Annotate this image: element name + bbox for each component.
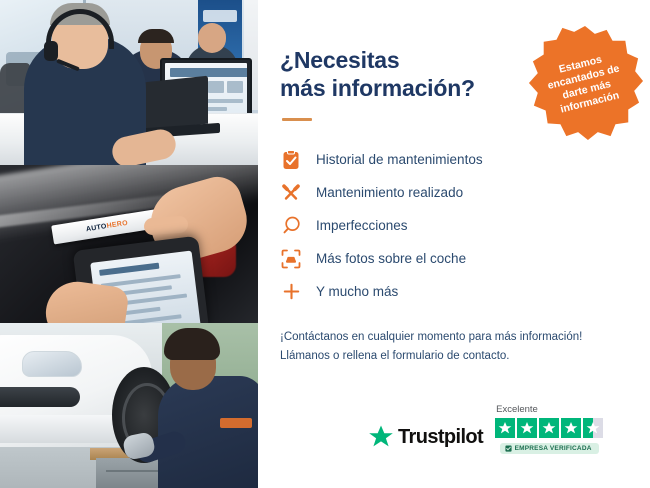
trustpilot-star-icon (368, 424, 394, 450)
second-agent-hair (138, 29, 174, 43)
info-badge: Estamos encantados de darte más informac… (526, 24, 644, 142)
technician-hair (164, 328, 220, 360)
page-title: ¿Necesitas más información? (280, 46, 505, 102)
feature-list: Historial de mantenimientos Mantenimient… (280, 143, 624, 308)
feature-label: Mantenimiento realizado (316, 185, 463, 200)
feature-label: Más fotos sobre el coche (316, 251, 466, 266)
ruler-brand-hero: HERO (106, 220, 128, 230)
inspector-finger (143, 215, 188, 235)
wheel-inspection-photo (0, 323, 258, 488)
car-scan-icon (280, 248, 302, 270)
laptop (144, 76, 208, 131)
contact-text: ¡Contáctanos en cualquier momento para m… (280, 328, 624, 365)
feature-item-maintenance-done: Mantenimiento realizado (280, 176, 624, 209)
verified-company-badge: EMPRESA VERIFICADA (500, 443, 599, 454)
contact-line-1: ¡Contáctanos en cualquier momento para m… (280, 331, 582, 343)
magnifier-icon (280, 215, 302, 237)
trustpilot-stars (495, 418, 603, 438)
info-poster: AUTOHERO (0, 0, 650, 488)
background-colleague-head (198, 23, 226, 53)
feature-label: Historial de mantenimientos (316, 152, 483, 167)
car-headlight (22, 351, 82, 377)
title-divider (282, 118, 312, 121)
page-title-line-1: ¿Necesitas (280, 47, 399, 73)
feature-item-maintenance-history: Historial de mantenimientos (280, 143, 624, 176)
badge-text: Estamos encantados de darte más informac… (531, 47, 640, 121)
agent-headset-earcup (44, 41, 58, 61)
car-inspection-ruler-photo: AUTOHERO (0, 165, 258, 323)
feature-item-much-more: Y mucho más (280, 275, 624, 308)
technician-uniform-logo (220, 418, 252, 428)
verified-company-label: EMPRESA VERIFICADA (515, 445, 592, 452)
feature-label: Y mucho más (316, 284, 398, 299)
content-panel: ¿Necesitas más información? Historial de… (258, 0, 650, 488)
contact-line-2: Llámanos o rellena el formulario de cont… (280, 350, 510, 362)
tools-cross-icon (280, 182, 302, 204)
star-5-half (583, 418, 603, 438)
trustpilot-rating-word: Excelente (496, 404, 538, 415)
star-2 (517, 418, 537, 438)
trustpilot-logo: Trustpilot (368, 424, 483, 454)
plus-icon (280, 281, 302, 303)
car-grille (0, 387, 80, 407)
feature-item-imperfections: Imperfecciones (280, 209, 624, 242)
trustpilot-wordmark: Trustpilot (398, 426, 483, 449)
page-title-line-2: más información? (280, 75, 475, 101)
ruler-brand-label: AUTOHERO (86, 220, 129, 234)
ruler-brand-auto: AUTO (86, 223, 108, 233)
feature-label: Imperfecciones (316, 218, 408, 233)
feature-item-more-photos: Más fotos sobre el coche (280, 242, 624, 275)
photo-column: AUTOHERO (0, 0, 258, 488)
star-1 (495, 418, 515, 438)
clipboard-check-icon (280, 149, 302, 171)
trustpilot-block: Trustpilot Excelente (368, 404, 603, 454)
call-center-agents-photo (0, 0, 258, 165)
trustpilot-rating: Excelente (495, 404, 603, 454)
verified-check-icon (505, 445, 512, 452)
star-4 (561, 418, 581, 438)
star-3 (539, 418, 559, 438)
